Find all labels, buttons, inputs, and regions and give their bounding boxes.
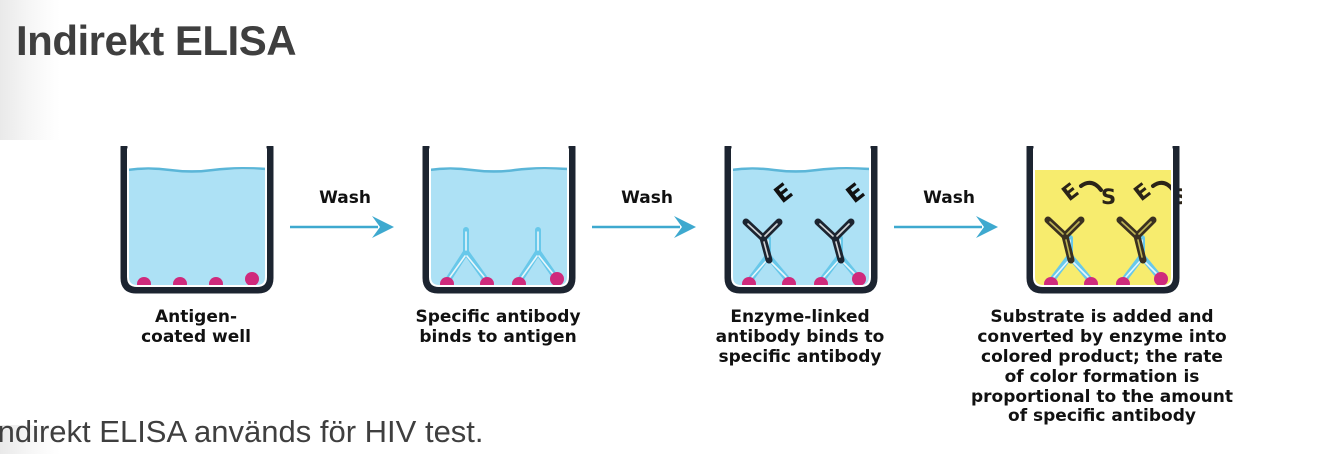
enzyme-label-left: E (770, 179, 798, 209)
elisa-step-3-caption: Enzyme-linked antibody binds to specific… (650, 308, 950, 368)
conversion-arc-right (1153, 183, 1173, 190)
caption-line: proportional to the amount (952, 388, 1252, 408)
elisa-step-4-caption: Substrate is added and converted by enzy… (952, 308, 1252, 427)
enzyme-label-left: E (1057, 178, 1083, 206)
elisa-step-specific-antibody-binds: Specific antibody binds to antigen (348, 140, 648, 425)
wash-arrow-group-1: Wash (290, 188, 400, 248)
elisa-step-2-caption: Specific antibody binds to antigen (348, 308, 648, 348)
elisa-steps-row: Antigen- coated well (0, 140, 1253, 425)
well-1-contents (118, 146, 276, 294)
arrow-right-icon (592, 214, 702, 244)
caption-line: of color formation is (952, 368, 1252, 388)
well-3: E E (722, 146, 880, 294)
substrate-label-left: S (1101, 185, 1116, 209)
wash-arrow-group-2: Wash (592, 188, 702, 248)
page-title: Indirekt ELISA (16, 17, 296, 65)
caption-line: coated well (46, 328, 346, 348)
elisa-step-enzyme-linked-antibody-binds: E E Enzyme-linked antibody binds to (650, 140, 950, 425)
caption-line: converted by enzyme into (952, 328, 1252, 348)
caption-line: Antigen- (46, 308, 346, 328)
caption-line: Substrate is added and (952, 308, 1252, 328)
arrow-right-icon (290, 214, 400, 244)
wash-arrow-group-3: Wash (894, 188, 1004, 248)
elisa-step-antigen-coated-well: Antigen- coated well (46, 140, 346, 425)
well-3-contents: E E (722, 146, 880, 294)
elisa-diagram-figure: Antigen- coated well (0, 140, 1253, 425)
caption-line: antibody binds to (650, 328, 950, 348)
well-4: E S E S (1024, 146, 1182, 294)
slide-body-text: Indirekt ELISA används för HIV test. (0, 414, 484, 450)
elisa-step-substrate-converted: E S E S (952, 140, 1252, 425)
wash-label: Wash (592, 188, 702, 208)
caption-line: Enzyme-linked (650, 308, 950, 328)
conversion-arc-left (1081, 183, 1101, 190)
caption-line: binds to antigen (348, 328, 648, 348)
caption-line: of specific antibody (952, 407, 1252, 427)
enzyme-label-right: E (842, 179, 870, 209)
caption-line: colored product; the rate (952, 348, 1252, 368)
caption-line: Specific antibody (348, 308, 648, 328)
enzyme-label-right: E (1129, 178, 1155, 206)
arrow-right-icon (894, 214, 1004, 244)
caption-line: specific antibody (650, 348, 950, 368)
elisa-step-1-caption: Antigen- coated well (46, 308, 346, 348)
well-2-contents (420, 146, 578, 294)
well-1 (118, 146, 276, 294)
well-4-contents: E S E S (1024, 146, 1182, 294)
wash-label: Wash (894, 188, 1004, 208)
well-2 (420, 146, 578, 294)
wash-label: Wash (290, 188, 400, 208)
